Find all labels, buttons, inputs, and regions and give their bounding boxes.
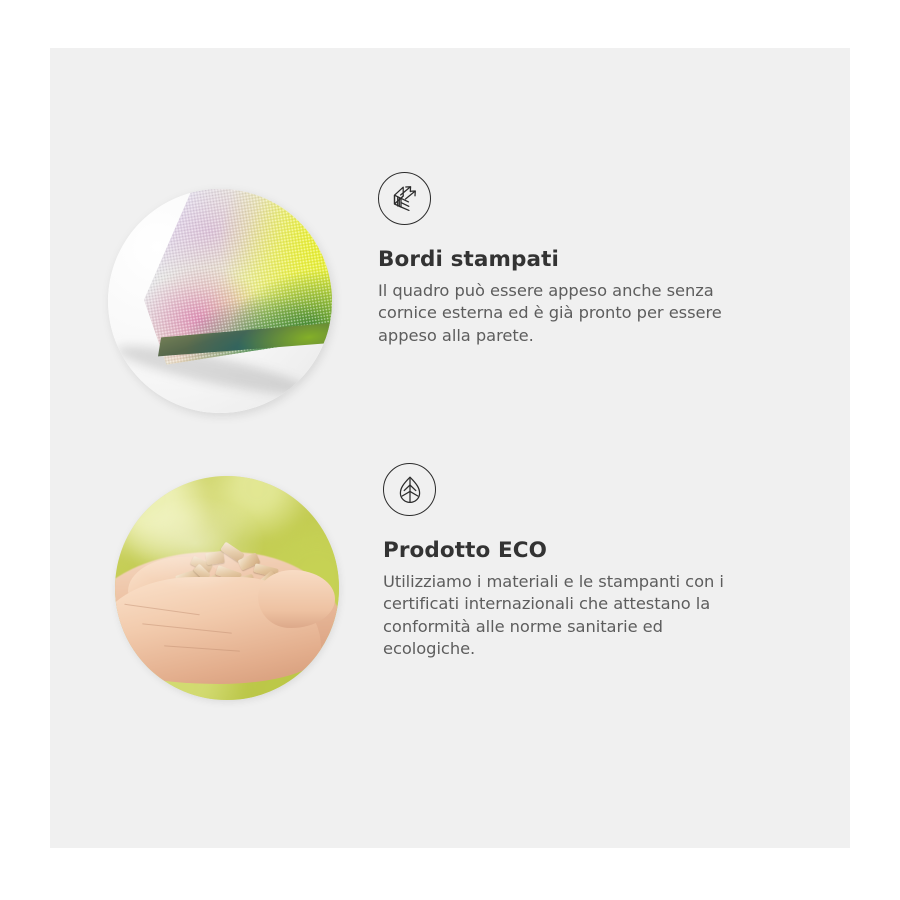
- leaf-icon: [383, 463, 436, 516]
- canvas-object: [127, 189, 332, 400]
- wood-chips-hands-photo: [105, 433, 335, 663]
- product-info-page: Bordi stampati Il quadro può essere appe…: [0, 0, 900, 900]
- feature-printed-edges: Bordi stampati Il quadro può essere appe…: [100, 142, 750, 372]
- canvas-corner-photo: [100, 142, 330, 372]
- feature-title: Prodotto ECO: [383, 538, 755, 564]
- eco-photo-disc: [115, 476, 339, 700]
- feature-eco-product: Prodotto ECO Utilizziamo i materiali e l…: [105, 433, 755, 663]
- feature-text-block: Prodotto ECO Utilizziamo i materiali e l…: [383, 433, 755, 661]
- feature-description: Utilizziamo i materiali e le stampanti c…: [383, 571, 755, 661]
- canvas-photo-disc: [108, 189, 332, 413]
- feature-title: Bordi stampati: [378, 247, 750, 273]
- feature-text-block: Bordi stampati Il quadro può essere appe…: [378, 142, 750, 347]
- feature-description: Il quadro può essere appeso anche senza …: [378, 280, 750, 347]
- printed-edges-icon: [378, 172, 431, 225]
